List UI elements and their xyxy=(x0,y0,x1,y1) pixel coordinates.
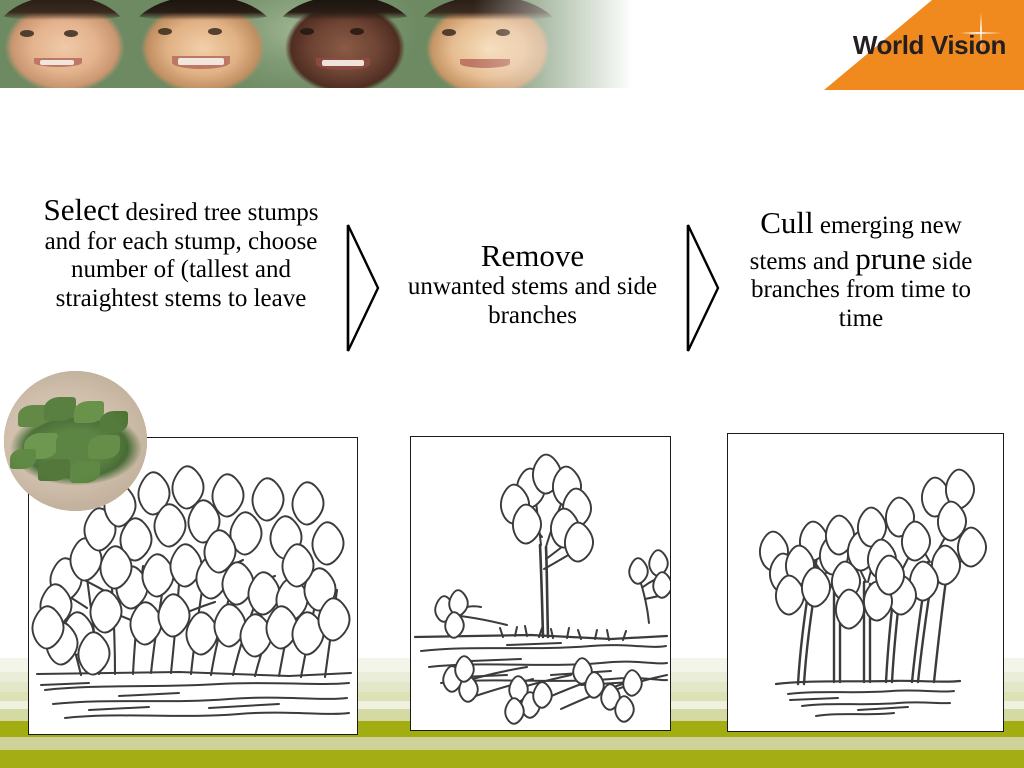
child-face-1 xyxy=(0,0,130,88)
child-face-2 xyxy=(128,0,278,88)
step-3-illustration xyxy=(727,433,1004,732)
chevron-2-icon xyxy=(686,222,722,359)
step-2-body: unwanted stems and side branches xyxy=(400,273,665,330)
logo-wordmark: World Vision xyxy=(853,30,1006,61)
step-2-caption: Remove unwanted stems and side branches xyxy=(400,238,665,330)
step-1-caption: Select desired tree stumps and for each … xyxy=(26,192,336,313)
step-2-illustration xyxy=(410,436,671,731)
step-2-emphasis: Remove xyxy=(400,238,665,273)
world-vision-logo: World Vision xyxy=(794,0,1024,90)
child-face-3 xyxy=(272,0,418,88)
step-3-caption: Cull emerging new stems and prune side b… xyxy=(730,205,992,333)
slide-canvas: World Vision Select desired tree stumps … xyxy=(0,0,1024,768)
chevron-1-icon xyxy=(346,222,382,359)
children-faces-photo xyxy=(0,0,640,88)
step-3-emphasis-1: Cull xyxy=(760,205,813,240)
child-face-4 xyxy=(412,0,564,88)
header-banner: World Vision xyxy=(0,0,1024,90)
regrowth-plant-circle-photo xyxy=(4,371,147,511)
step-3-emphasis-2: prune xyxy=(855,241,926,276)
step-1-emphasis: Select xyxy=(43,192,119,227)
